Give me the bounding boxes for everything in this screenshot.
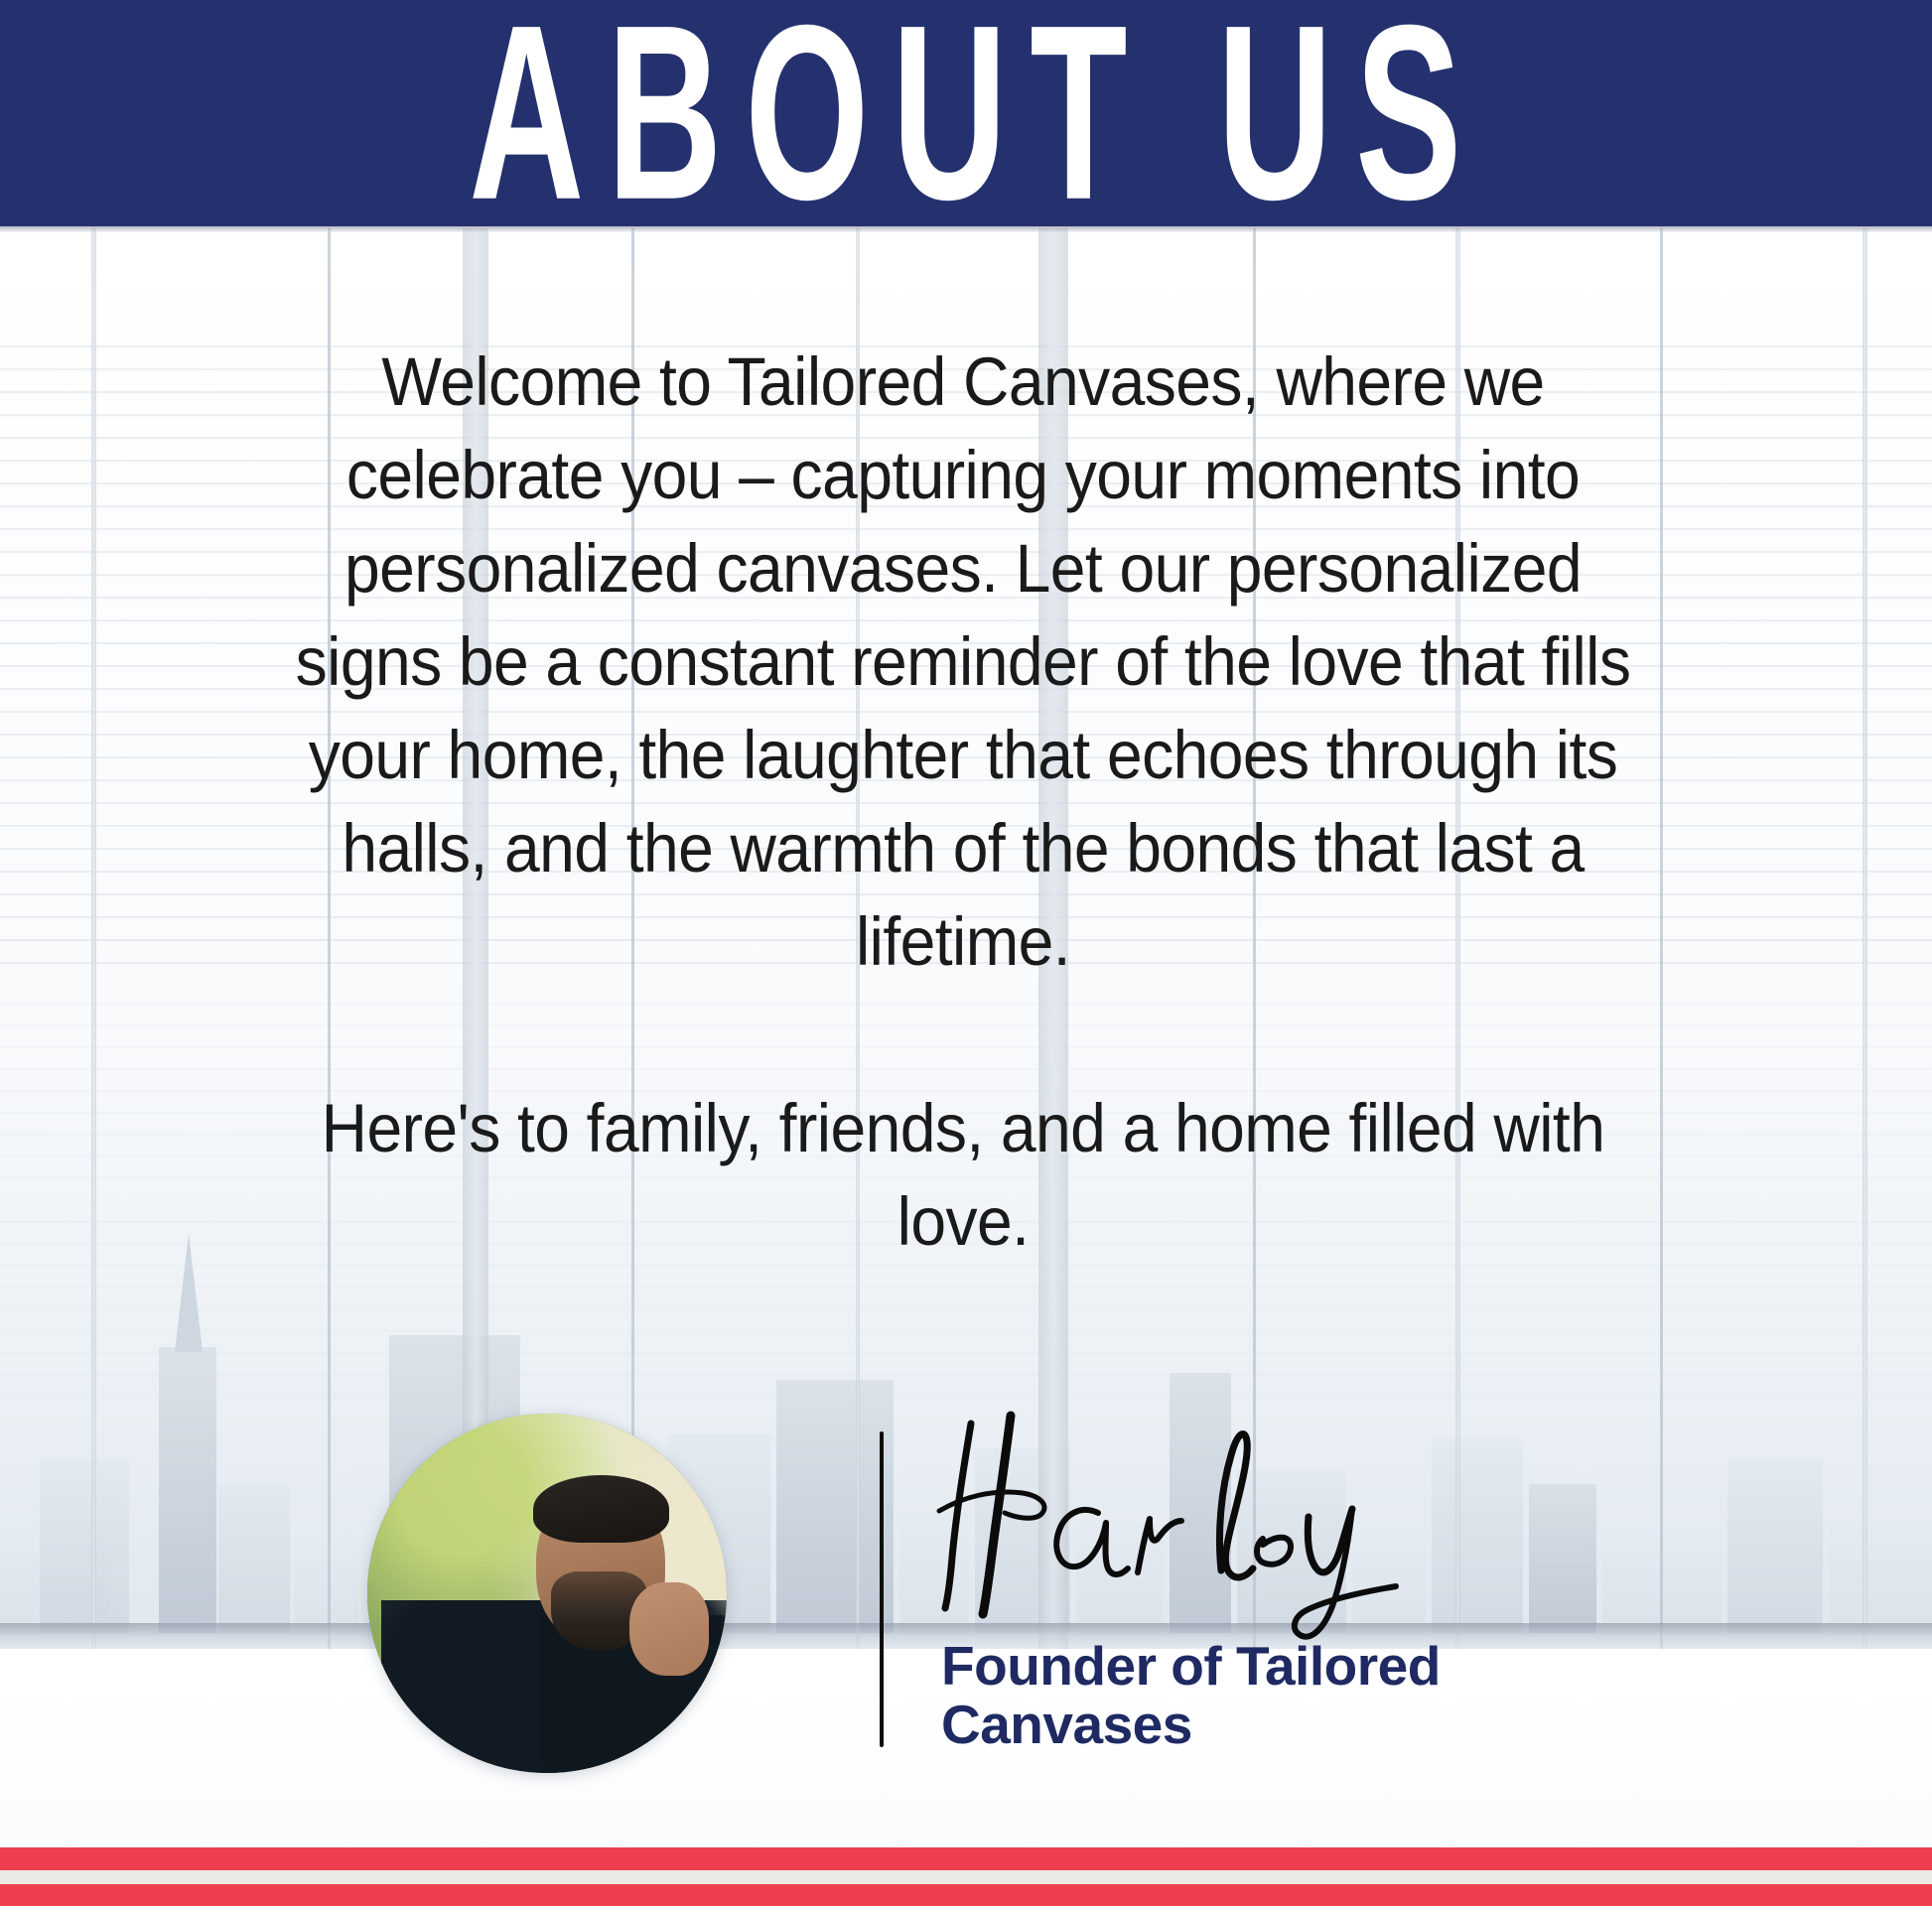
header-bottom-edge: [0, 226, 1932, 232]
header-banner: ABOUT US: [0, 0, 1932, 226]
founder-role-line-1: Founder of Tailored: [941, 1637, 1557, 1696]
avatar-hair: [533, 1475, 670, 1544]
founder-role-line-2: Canvases: [941, 1696, 1557, 1754]
vertical-divider: [880, 1431, 884, 1747]
founder-role: Founder of Tailored Canvases: [941, 1637, 1557, 1754]
about-copy: Welcome to Tailored Canvases, where we c…: [266, 336, 1660, 1269]
paragraph-spacer: [266, 989, 1660, 1082]
founder-signature: Harley: [894, 1394, 1509, 1642]
avatar-hand: [629, 1582, 709, 1676]
footer-stripe-bottom: [0, 1884, 1932, 1906]
signature-icon: [894, 1394, 1509, 1642]
about-us-poster: ABOUT US Welcome to Tailored Canvases, w…: [0, 0, 1932, 1906]
founder-avatar: [367, 1414, 727, 1773]
about-paragraph-2: Here's to family, friends, and a home fi…: [266, 1082, 1660, 1269]
page-title: ABOUT US: [469, 0, 1484, 240]
footer-stripe-top: [0, 1847, 1932, 1870]
about-paragraph-1: Welcome to Tailored Canvases, where we c…: [266, 336, 1660, 989]
footer-stripe-gap: [0, 1870, 1932, 1884]
